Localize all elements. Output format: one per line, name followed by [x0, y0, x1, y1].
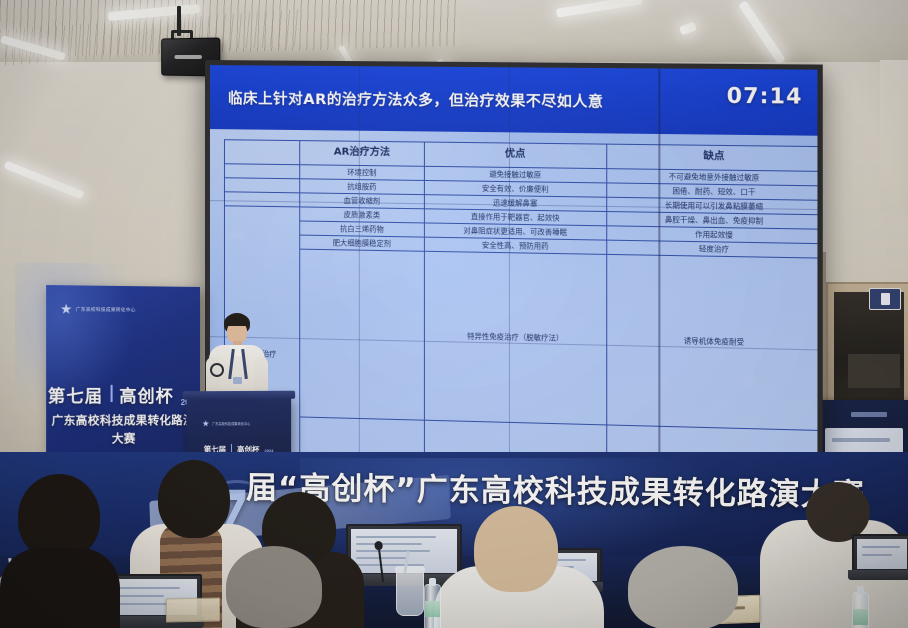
banner-subtitle: 广东高校科技成果转化路演大赛 [51, 413, 194, 445]
attendee-head [806, 482, 870, 542]
drink-cup [396, 570, 424, 616]
attendee-body [0, 548, 120, 628]
attendee-head [158, 460, 230, 538]
star-icon [202, 420, 209, 427]
monitor-content-card [825, 428, 903, 454]
judge-head [474, 506, 558, 592]
banner-logo: 广东高校科技成果转化中心 [61, 304, 136, 316]
laptop [852, 534, 908, 580]
banner-org-text: 广东高校科技成果转化中心 [76, 306, 136, 313]
podium-logo: 广东高校科技成果转化中心 [202, 420, 250, 427]
laptop-screen [852, 534, 908, 574]
laptop-keyboard [848, 570, 908, 580]
document-sign-icon [869, 288, 901, 310]
podium-divider [231, 444, 232, 452]
banner-title-row: 第七届 高创杯 2024 [46, 382, 200, 407]
attendee-head [226, 546, 322, 628]
banner-divider [110, 385, 112, 402]
banner-edition: 第七届 [48, 382, 103, 407]
water-bottle [852, 592, 869, 628]
conference-photo: 临床上针对AR的治疗方法众多，但治疗效果不尽如人意 07:14 AR治疗方法 优… [0, 0, 908, 628]
banner-cup-name: 高创杯 [119, 382, 173, 407]
banner-subtitle-row: 广东高校科技成果转化路演大赛 [46, 411, 200, 448]
wall-panel-right [880, 60, 908, 210]
presenter-badge [233, 377, 242, 384]
star-icon [61, 304, 72, 315]
document-glyph [881, 293, 890, 305]
podium-top [183, 391, 296, 400]
led-video-wall: 临床上针对AR的治疗方法众多，但治疗效果不尽如人意 07:14 AR治疗方法 优… [205, 60, 823, 498]
podium-org-text: 广东高校科技成果转化中心 [212, 421, 250, 426]
monitor-title-bar [851, 412, 887, 417]
water-bottle [424, 584, 441, 628]
sleeve-emblem-icon [210, 363, 224, 377]
name-card [166, 598, 220, 623]
speaker-driver [174, 55, 201, 59]
presenter-fringe [224, 315, 250, 326]
attendee-head [628, 546, 738, 628]
laptop-display [857, 539, 907, 569]
screen-bezel [205, 60, 823, 498]
